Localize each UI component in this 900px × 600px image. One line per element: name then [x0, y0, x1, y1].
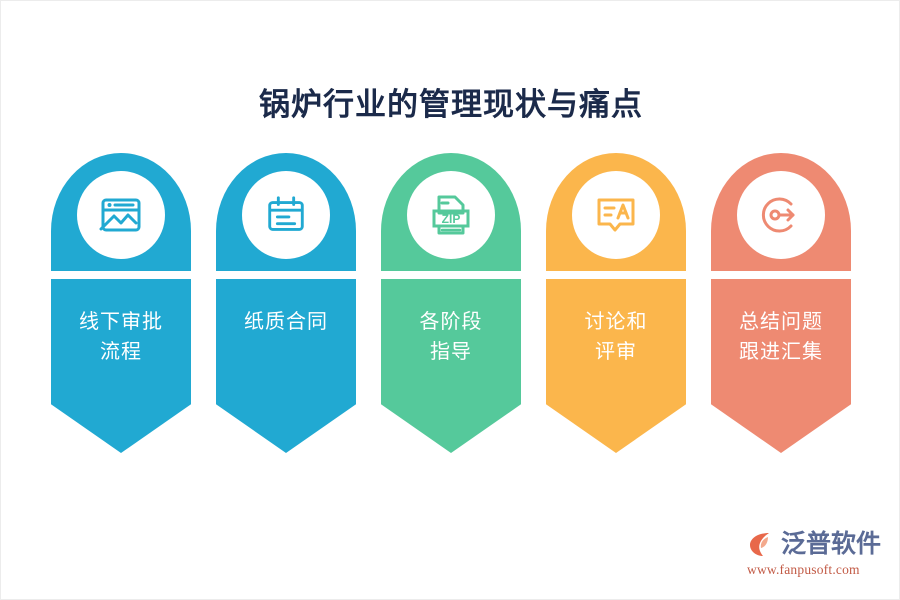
pillar-banner-2: 纸质合同	[216, 279, 356, 453]
translate-bubble-icon	[592, 191, 640, 239]
notepad-lines-icon	[263, 192, 309, 238]
pillar-label-3: 各阶段 指导	[381, 307, 521, 367]
icon-circle-4	[572, 171, 660, 259]
pillar-banner-3: 各阶段 指导	[381, 279, 521, 453]
brand-url: www.fanpusoft.com	[747, 562, 883, 578]
brand-logo-row: 泛普软件	[747, 527, 883, 561]
pillar-label-4: 讨论和 评审	[546, 307, 686, 367]
pillar-item-1[interactable]: 线下审批 流程	[51, 153, 191, 453]
browser-image-icon	[97, 191, 145, 239]
icon-circle-2	[242, 171, 330, 259]
pillar-item-3[interactable]: ZIP 各阶段 指导	[381, 153, 521, 453]
pillar-label-2: 纸质合同	[216, 307, 356, 337]
brand-name: 泛普软件	[781, 532, 881, 557]
svg-text:ZIP: ZIP	[442, 212, 461, 226]
icon-circle-1	[77, 171, 165, 259]
pillar-head-5	[711, 153, 851, 271]
pillar-label-1: 线下审批 流程	[51, 307, 191, 367]
fanpu-mark-icon	[747, 529, 777, 559]
pillar-item-2[interactable]: 纸质合同	[216, 153, 356, 453]
pillar-banner-1: 线下审批 流程	[51, 279, 191, 453]
pillar-label-5: 总结问题 跟进汇集	[711, 307, 851, 367]
pillar-head-4	[546, 153, 686, 271]
pillar-list: 线下审批 流程 纸质合同	[51, 153, 851, 453]
zip-file-icon: ZIP	[427, 191, 475, 239]
pillar-item-5[interactable]: 总结问题 跟进汇集	[711, 153, 851, 453]
pillar-banner-5: 总结问题 跟进汇集	[711, 279, 851, 453]
pillar-item-4[interactable]: 讨论和 评审	[546, 153, 686, 453]
circle-arrow-right-icon	[757, 191, 805, 239]
pillar-head-2	[216, 153, 356, 271]
slide-canvas: 锅炉行业的管理现状与痛点 线下审批 流程	[0, 0, 900, 600]
brand-logo[interactable]: 泛普软件 www.fanpusoft.com	[747, 527, 883, 583]
page-title: 锅炉行业的管理现状与痛点	[1, 79, 900, 124]
icon-circle-5	[737, 171, 825, 259]
pillar-banner-4: 讨论和 评审	[546, 279, 686, 453]
icon-circle-3: ZIP	[407, 171, 495, 259]
pillar-head-3: ZIP	[381, 153, 521, 271]
pillar-head-1	[51, 153, 191, 271]
